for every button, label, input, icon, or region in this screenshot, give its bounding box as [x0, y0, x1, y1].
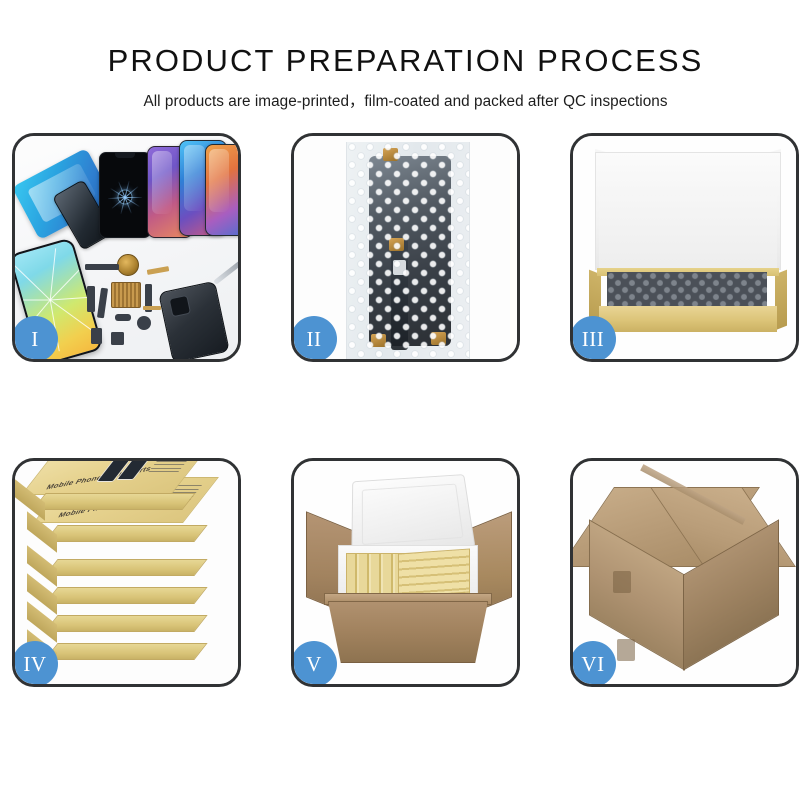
button-part	[115, 314, 131, 321]
bubble-texture	[347, 142, 469, 359]
phone-orange	[205, 144, 238, 236]
carton-tab-upper	[613, 571, 631, 593]
process-step-3: III	[570, 133, 799, 362]
photo-spare-parts-overview: I	[15, 136, 238, 359]
process-step-2: II	[291, 133, 520, 362]
page-header: PRODUCT PREPARATION PROCESS All products…	[0, 0, 811, 111]
bubble-wrap-bag	[346, 142, 470, 359]
gold-connector	[143, 306, 161, 310]
photo-stacked-retail-boxes: Mobile Phone Spare Parts Mobile Phone Sp…	[15, 461, 238, 684]
page-title: PRODUCT PREPARATION PROCESS	[0, 44, 811, 78]
process-step-4: Mobile Phone Spare Parts Mobile Phone Sp…	[12, 458, 241, 687]
rear-housing	[158, 281, 230, 359]
photo-sealed-shipping-carton: VI	[573, 461, 796, 684]
retail-boxes-row-2	[398, 549, 470, 598]
carton-tab-lower	[617, 639, 635, 661]
process-step-5: V	[291, 458, 520, 687]
bubble-wrapped-contents	[607, 272, 767, 308]
sim-tray	[91, 328, 102, 344]
process-step-1: I	[12, 133, 241, 362]
step-badge-2: II	[294, 316, 337, 359]
tray-front-panel	[599, 306, 777, 332]
earpiece-mesh	[85, 264, 119, 270]
photo-bubble-wrapped-screen: II	[294, 136, 517, 359]
process-step-6: VI	[570, 458, 799, 687]
step-badge-3: III	[573, 316, 616, 359]
cracked-glass-panel	[99, 152, 151, 238]
pry-tool	[213, 260, 238, 285]
photo-foam-lined-carton: V	[294, 461, 517, 684]
page-subtitle: All products are image-printed，film-coat…	[0, 89, 811, 111]
step-badge-1: I	[15, 316, 58, 359]
step-badge-5: V	[294, 641, 337, 684]
flex-cable-2	[97, 288, 108, 319]
photo-open-inner-box: III	[573, 136, 796, 359]
step-badge-6: VI	[573, 641, 616, 684]
gold-flex-tip	[147, 266, 170, 275]
carton-front	[328, 601, 488, 663]
process-step-grid: I II	[12, 133, 799, 687]
camera-module	[137, 316, 151, 330]
flex-cable-1	[87, 286, 95, 312]
crack-starburst	[105, 177, 145, 217]
speaker-coil	[117, 254, 139, 276]
phone-notch	[115, 153, 135, 158]
step-badge-4: IV	[15, 641, 58, 684]
small-ic	[111, 332, 124, 345]
gold-contact-pad	[111, 282, 141, 308]
box-inner-wall	[599, 196, 777, 274]
